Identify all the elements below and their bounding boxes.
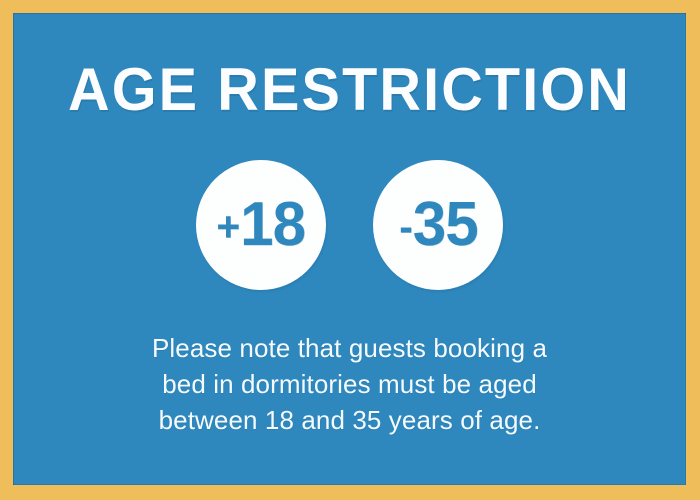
badge-maximum-age: - 35	[373, 160, 503, 290]
body-copy-line: bed in dormitories must be aged	[13, 366, 686, 402]
badge-minimum-age-text: + 18	[217, 194, 306, 256]
poster-panel: AGE RESTRICTION + 18 - 35 Please note th…	[13, 13, 686, 485]
badge-minimum-age: + 18	[196, 160, 326, 290]
body-copy-line: between 18 and 35 years of age.	[13, 402, 686, 438]
plus-sign-icon: +	[217, 206, 240, 248]
badge-maximum-age-text: - 35	[399, 194, 478, 256]
badge-minimum-age-number: 18	[240, 194, 305, 256]
minus-sign-icon: -	[399, 206, 412, 248]
body-copy: Please note that guests booking a bed in…	[13, 330, 686, 438]
age-badge-group: + 18 - 35	[13, 160, 686, 290]
page-title: AGE RESTRICTION	[26, 59, 672, 121]
age-restriction-poster: AGE RESTRICTION + 18 - 35 Please note th…	[0, 0, 700, 500]
body-copy-line: Please note that guests booking a	[13, 330, 686, 366]
badge-maximum-age-number: 35	[412, 194, 477, 256]
